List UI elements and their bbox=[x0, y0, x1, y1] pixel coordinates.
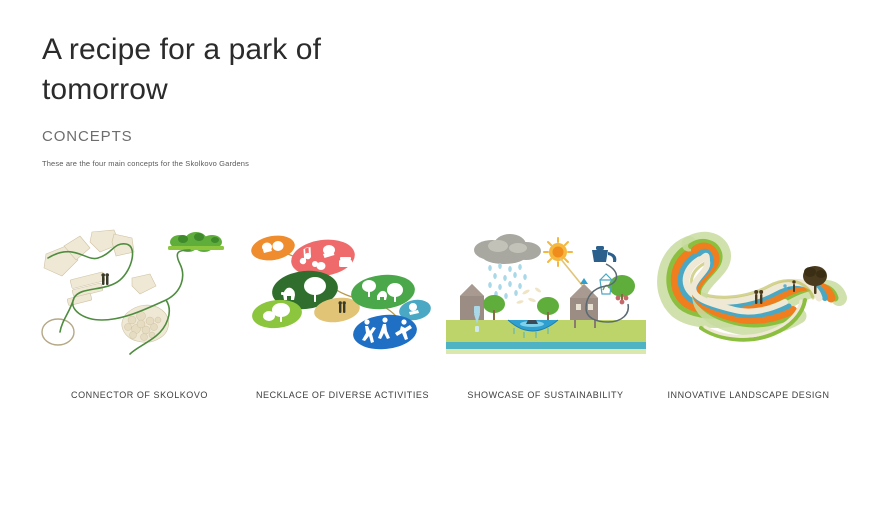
innovative-landscape-design-illustration bbox=[649, 228, 849, 360]
concept-item-landscape[interactable]: INNOVATIVE LANDSCAPE DESIGN bbox=[647, 228, 850, 400]
section-heading: CONCEPTS bbox=[42, 128, 562, 145]
connector-of-skolkovo-illustration bbox=[40, 228, 240, 360]
page-title: A recipe for a park of tomorrow bbox=[42, 30, 342, 110]
necklace-of-diverse-activities-illustration bbox=[243, 228, 443, 360]
concepts-row: CONNECTOR OF SKOLKOVO bbox=[38, 228, 850, 400]
showcase-of-sustainability-illustration bbox=[446, 228, 646, 360]
slide-canvas: A recipe for a park of tomorrow CONCEPTS… bbox=[0, 0, 882, 526]
concept-label: CONNECTOR OF SKOLKOVO bbox=[71, 390, 208, 400]
concept-item-necklace[interactable]: NECKLACE OF DIVERSE ACTIVITIES bbox=[241, 228, 444, 400]
concept-item-showcase[interactable]: SHOWCASE OF SUSTAINABILITY bbox=[444, 228, 647, 400]
section-caption: These are the four main concepts for the… bbox=[42, 159, 562, 168]
concept-item-connector[interactable]: CONNECTOR OF SKOLKOVO bbox=[38, 228, 241, 400]
concept-label: SHOWCASE OF SUSTAINABILITY bbox=[467, 390, 623, 400]
concept-label: NECKLACE OF DIVERSE ACTIVITIES bbox=[256, 390, 429, 400]
concept-label: INNOVATIVE LANDSCAPE DESIGN bbox=[667, 390, 829, 400]
slide-header: A recipe for a park of tomorrow CONCEPTS… bbox=[42, 30, 562, 168]
